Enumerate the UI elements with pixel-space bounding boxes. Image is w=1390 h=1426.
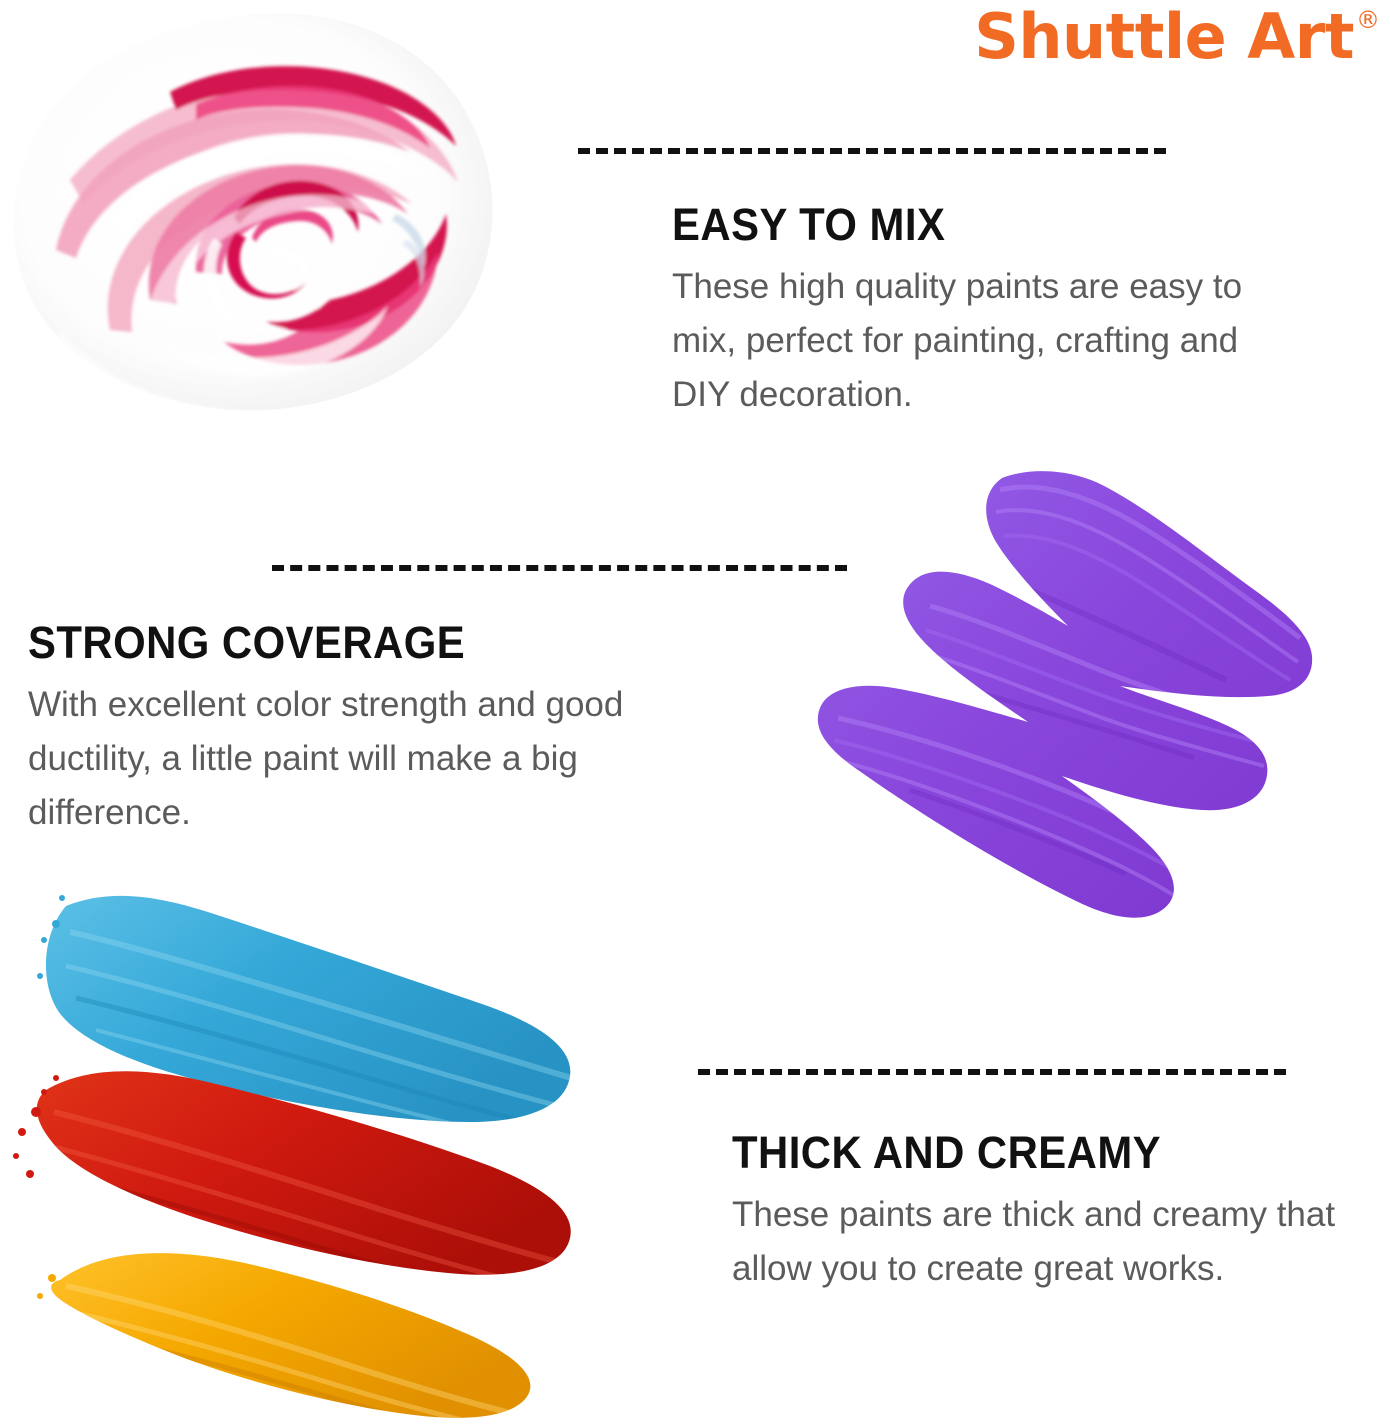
- yellow-paint-stroke: [37, 1253, 540, 1426]
- feature-block-thick-and-creamy: THICK AND CREAMY These paints are thick …: [732, 1128, 1390, 1296]
- brand-logo: Shuttle Art ®: [860, 4, 1380, 84]
- pink-swirl-paint-image: [0, 0, 520, 440]
- blue-red-yellow-paint-strokes-image: [0, 880, 620, 1426]
- registered-trademark-icon: ®: [1356, 8, 1380, 32]
- feature-heading-strong-coverage: STRONG COVERAGE: [28, 618, 642, 668]
- section-divider-strong-coverage: [272, 565, 847, 571]
- feature-block-strong-coverage: STRONG COVERAGE With excellent color str…: [28, 618, 688, 840]
- feature-body-strong-coverage: With excellent color strength and good d…: [28, 678, 688, 840]
- feature-heading-easy-to-mix: EASY TO MIX: [672, 200, 1230, 250]
- feature-body-thick-and-creamy: These paints are thick and creamy that a…: [732, 1188, 1390, 1296]
- feature-body-easy-to-mix: These high quality paints are easy to mi…: [672, 260, 1272, 422]
- brand-logo-text: Shuttle Art: [974, 4, 1354, 70]
- feature-block-easy-to-mix: EASY TO MIX These high quality paints ar…: [672, 200, 1272, 422]
- feature-heading-thick-and-creamy: THICK AND CREAMY: [732, 1128, 1346, 1178]
- purple-brush-stroke-image: [790, 440, 1390, 970]
- section-divider-easy-to-mix: [578, 148, 1166, 154]
- infographic-page: Shuttle Art ®: [0, 0, 1390, 1426]
- section-divider-thick-and-creamy: [698, 1069, 1286, 1075]
